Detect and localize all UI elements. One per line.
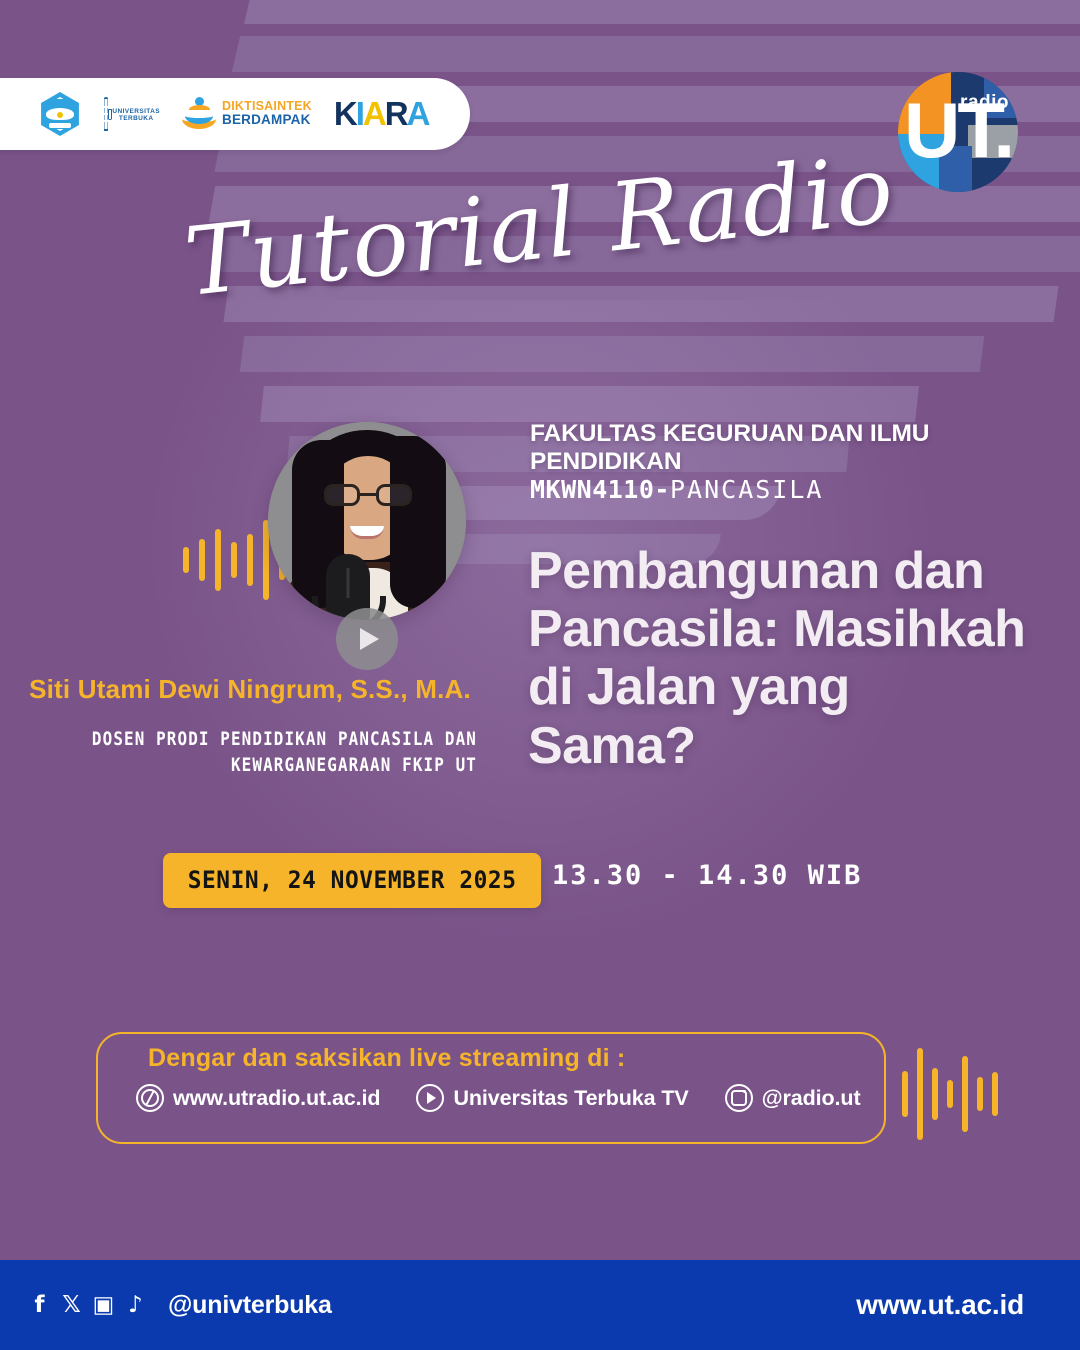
speaker-role-line1: DOSEN PRODI PENDIDIKAN PANCASILA DAN: [67, 727, 477, 753]
stripe: [244, 0, 1080, 24]
glasses-icon: [324, 484, 412, 506]
play-icon: [360, 628, 379, 650]
time-label: 13.30 - 14.30 WIB: [552, 860, 862, 891]
course-separator: -: [654, 475, 670, 504]
diktisaintek-icon: [182, 96, 216, 132]
social-links: f 𝕏 ▣ ♪ @univterbuka: [28, 1291, 332, 1320]
speaker-name: Siti Utami Dewi Ningrum, S.S., M.A.: [0, 674, 500, 705]
website-url[interactable]: www.ut.ac.id: [856, 1289, 1024, 1321]
stripe: [260, 386, 919, 422]
streaming-channel-website[interactable]: www.utradio.ut.ac.id: [136, 1084, 380, 1112]
partner-logo-bar: UNIVERSITAS TERBUKA DIKTISAINTEK BERDAMP…: [0, 78, 470, 150]
speaker-photo: [268, 422, 466, 620]
instagram-icon: [725, 1084, 753, 1112]
social-handle: @univterbuka: [168, 1291, 332, 1320]
ut-radio-word: radio: [960, 92, 1009, 114]
tut-wuri-handayani-logo: [38, 92, 82, 136]
facebook-icon[interactable]: f: [28, 1292, 51, 1318]
youtube-icon: [416, 1084, 444, 1112]
streaming-channel-label: Universitas Terbuka TV: [453, 1086, 688, 1111]
date-badge: SENIN, 24 NOVEMBER 2025: [163, 853, 541, 908]
globe-icon: [136, 1084, 164, 1112]
course-name: PANCASILA: [670, 475, 823, 504]
tiktok-icon[interactable]: ♪: [124, 1292, 147, 1318]
stripe: [240, 336, 984, 372]
footer-bar: f 𝕏 ▣ ♪ @univterbuka www.ut.ac.id: [0, 1260, 1080, 1350]
instagram-icon[interactable]: ▣: [92, 1292, 115, 1318]
x-twitter-icon[interactable]: 𝕏: [60, 1292, 83, 1318]
course-code: MKWN4110: [530, 475, 654, 504]
stripe: [232, 36, 1080, 72]
streaming-channels: www.utradio.ut.ac.id Universitas Terbuka…: [136, 1084, 861, 1112]
poster-canvas: UNIVERSITAS TERBUKA DIKTISAINTEK BERDAMP…: [0, 0, 1080, 1350]
diktisaintek-line2: BERDAMPAK: [222, 113, 312, 127]
faculty-label: FAKULTAS KEGURUAN DAN ILMU PENDIDIKAN: [530, 420, 1080, 476]
streaming-channel-instagram[interactable]: @radio.ut: [725, 1084, 861, 1112]
sound-wave-icon-right: [902, 1045, 998, 1143]
ut-logo-caption: UNIVERSITAS TERBUKA: [112, 108, 160, 122]
universitas-terbuka-logo: UNIVERSITAS TERBUKA: [104, 97, 160, 131]
course-label: MKWN4110-PANCASILA: [530, 475, 823, 504]
diktisaintek-berdampak-logo: DIKTISAINTEK BERDAMPAK: [182, 96, 312, 132]
speaker-role: DOSEN PRODI PENDIDIKAN PANCASILA DAN KEW…: [67, 727, 477, 778]
headline: Pembangunan dan Pancasila: Masihkah di J…: [528, 542, 1028, 775]
kiara-logo: KIARA: [334, 95, 429, 133]
streaming-channel-label: @radio.ut: [762, 1086, 861, 1111]
streaming-channel-youtube[interactable]: Universitas Terbuka TV: [416, 1084, 688, 1112]
speaker-role-line2: KEWARGANEGARAAN FKIP UT: [67, 753, 477, 779]
streaming-title: Dengar dan saksikan live streaming di :: [148, 1044, 625, 1073]
streaming-channel-label: www.utradio.ut.ac.id: [173, 1086, 380, 1111]
play-button[interactable]: [336, 608, 398, 670]
